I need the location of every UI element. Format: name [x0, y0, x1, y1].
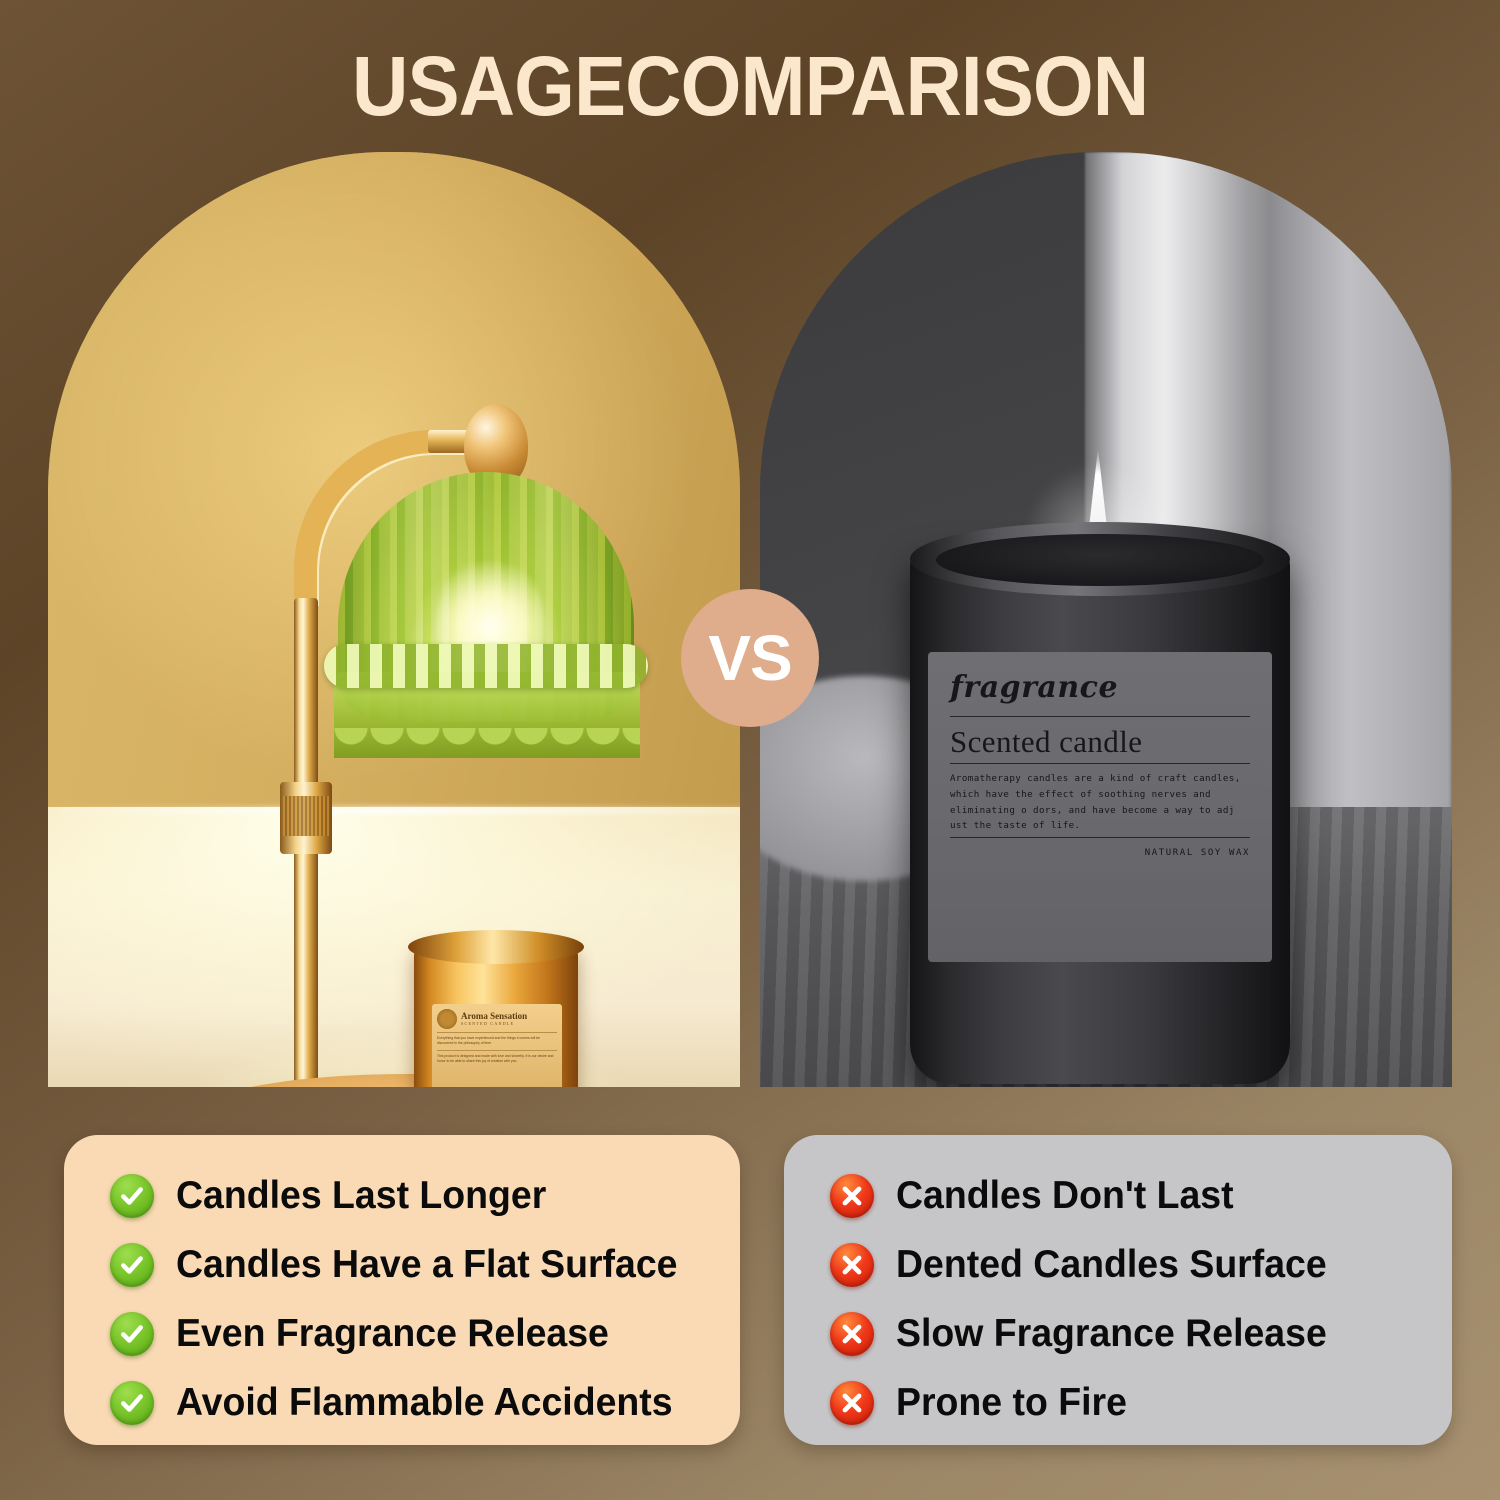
- amber-label-body-1: Everything that you have experienced and…: [437, 1036, 557, 1051]
- x-circle-icon: [830, 1381, 874, 1425]
- black-label-body: Aromatherapy candles are a kind of craft…: [950, 771, 1250, 834]
- list-item: Candles Don't Last: [830, 1161, 1452, 1230]
- black-jar-wax-surface: [936, 534, 1264, 586]
- x-circle-icon: [830, 1312, 874, 1356]
- check-circle-icon: [110, 1381, 154, 1425]
- vs-label: VS: [708, 626, 791, 690]
- cons-item-label: Candles Don't Last: [896, 1176, 1234, 1215]
- amber-label-brand: Aroma Sensation: [461, 1012, 527, 1021]
- list-item: Avoid Flammable Accidents: [110, 1368, 740, 1437]
- lampshade-scalloped-edge: [334, 728, 640, 768]
- cons-item-label: Dented Candles Surface: [896, 1245, 1327, 1284]
- list-item: Dented Candles Surface: [830, 1230, 1452, 1299]
- list-item: Prone to Fire: [830, 1368, 1452, 1437]
- pros-item-label: Even Fragrance Release: [176, 1314, 609, 1353]
- cons-item-label: Prone to Fire: [896, 1383, 1127, 1422]
- x-circle-icon: [830, 1174, 874, 1218]
- check-circle-icon: [110, 1243, 154, 1287]
- lamp-height-collar: [280, 782, 332, 854]
- amber-label-body-2: This product is designed and made with l…: [437, 1054, 557, 1065]
- page-header: USAGECOMPARISON: [0, 44, 1500, 128]
- black-label-footer: NATURAL SOY WAX: [950, 848, 1250, 858]
- lampshade-bead-band: [324, 644, 648, 688]
- check-circle-icon: [110, 1312, 154, 1356]
- vs-badge: VS: [681, 589, 819, 727]
- pros-item-label: Avoid Flammable Accidents: [176, 1383, 673, 1422]
- black-label-divider-bottom: [950, 837, 1250, 838]
- cons-card: Candles Don't Last Dented Candles Surfac…: [784, 1135, 1452, 1445]
- cons-item-label: Slow Fragrance Release: [896, 1314, 1327, 1353]
- gray-curtain-secondary: [1272, 152, 1452, 919]
- amber-jar-rim: [408, 930, 584, 964]
- black-label-title: Scented candle: [950, 724, 1250, 760]
- list-item: Candles Last Longer: [110, 1161, 740, 1230]
- check-circle-icon: [110, 1174, 154, 1218]
- list-item: Candles Have a Flat Surface: [110, 1230, 740, 1299]
- black-jar-label: fragrance Scented candle Aromatherapy ca…: [928, 652, 1272, 962]
- left-product-photo: Aroma Sensation SCENTED CANDLE Everythin…: [48, 152, 740, 1087]
- page-title: USAGECOMPARISON: [352, 44, 1148, 128]
- amber-jar-label: Aroma Sensation SCENTED CANDLE Everythin…: [432, 1004, 562, 1087]
- list-item: Even Fragrance Release: [110, 1299, 740, 1368]
- pros-item-label: Candles Have a Flat Surface: [176, 1245, 677, 1284]
- black-label-script-text: fragrance: [950, 670, 1250, 713]
- black-label-divider-mid: [950, 763, 1250, 764]
- right-product-photo: fragrance Scented candle Aromatherapy ca…: [760, 152, 1452, 1087]
- pros-card: Candles Last Longer Candles Have a Flat …: [64, 1135, 740, 1445]
- x-circle-icon: [830, 1243, 874, 1287]
- amber-label-subtitle: SCENTED CANDLE: [461, 1021, 527, 1026]
- pros-item-label: Candles Last Longer: [176, 1176, 546, 1215]
- black-label-divider-top: [950, 716, 1250, 717]
- list-item: Slow Fragrance Release: [830, 1299, 1452, 1368]
- amber-label-crest-icon: [437, 1009, 457, 1029]
- amber-label-header: Aroma Sensation SCENTED CANDLE: [437, 1009, 557, 1033]
